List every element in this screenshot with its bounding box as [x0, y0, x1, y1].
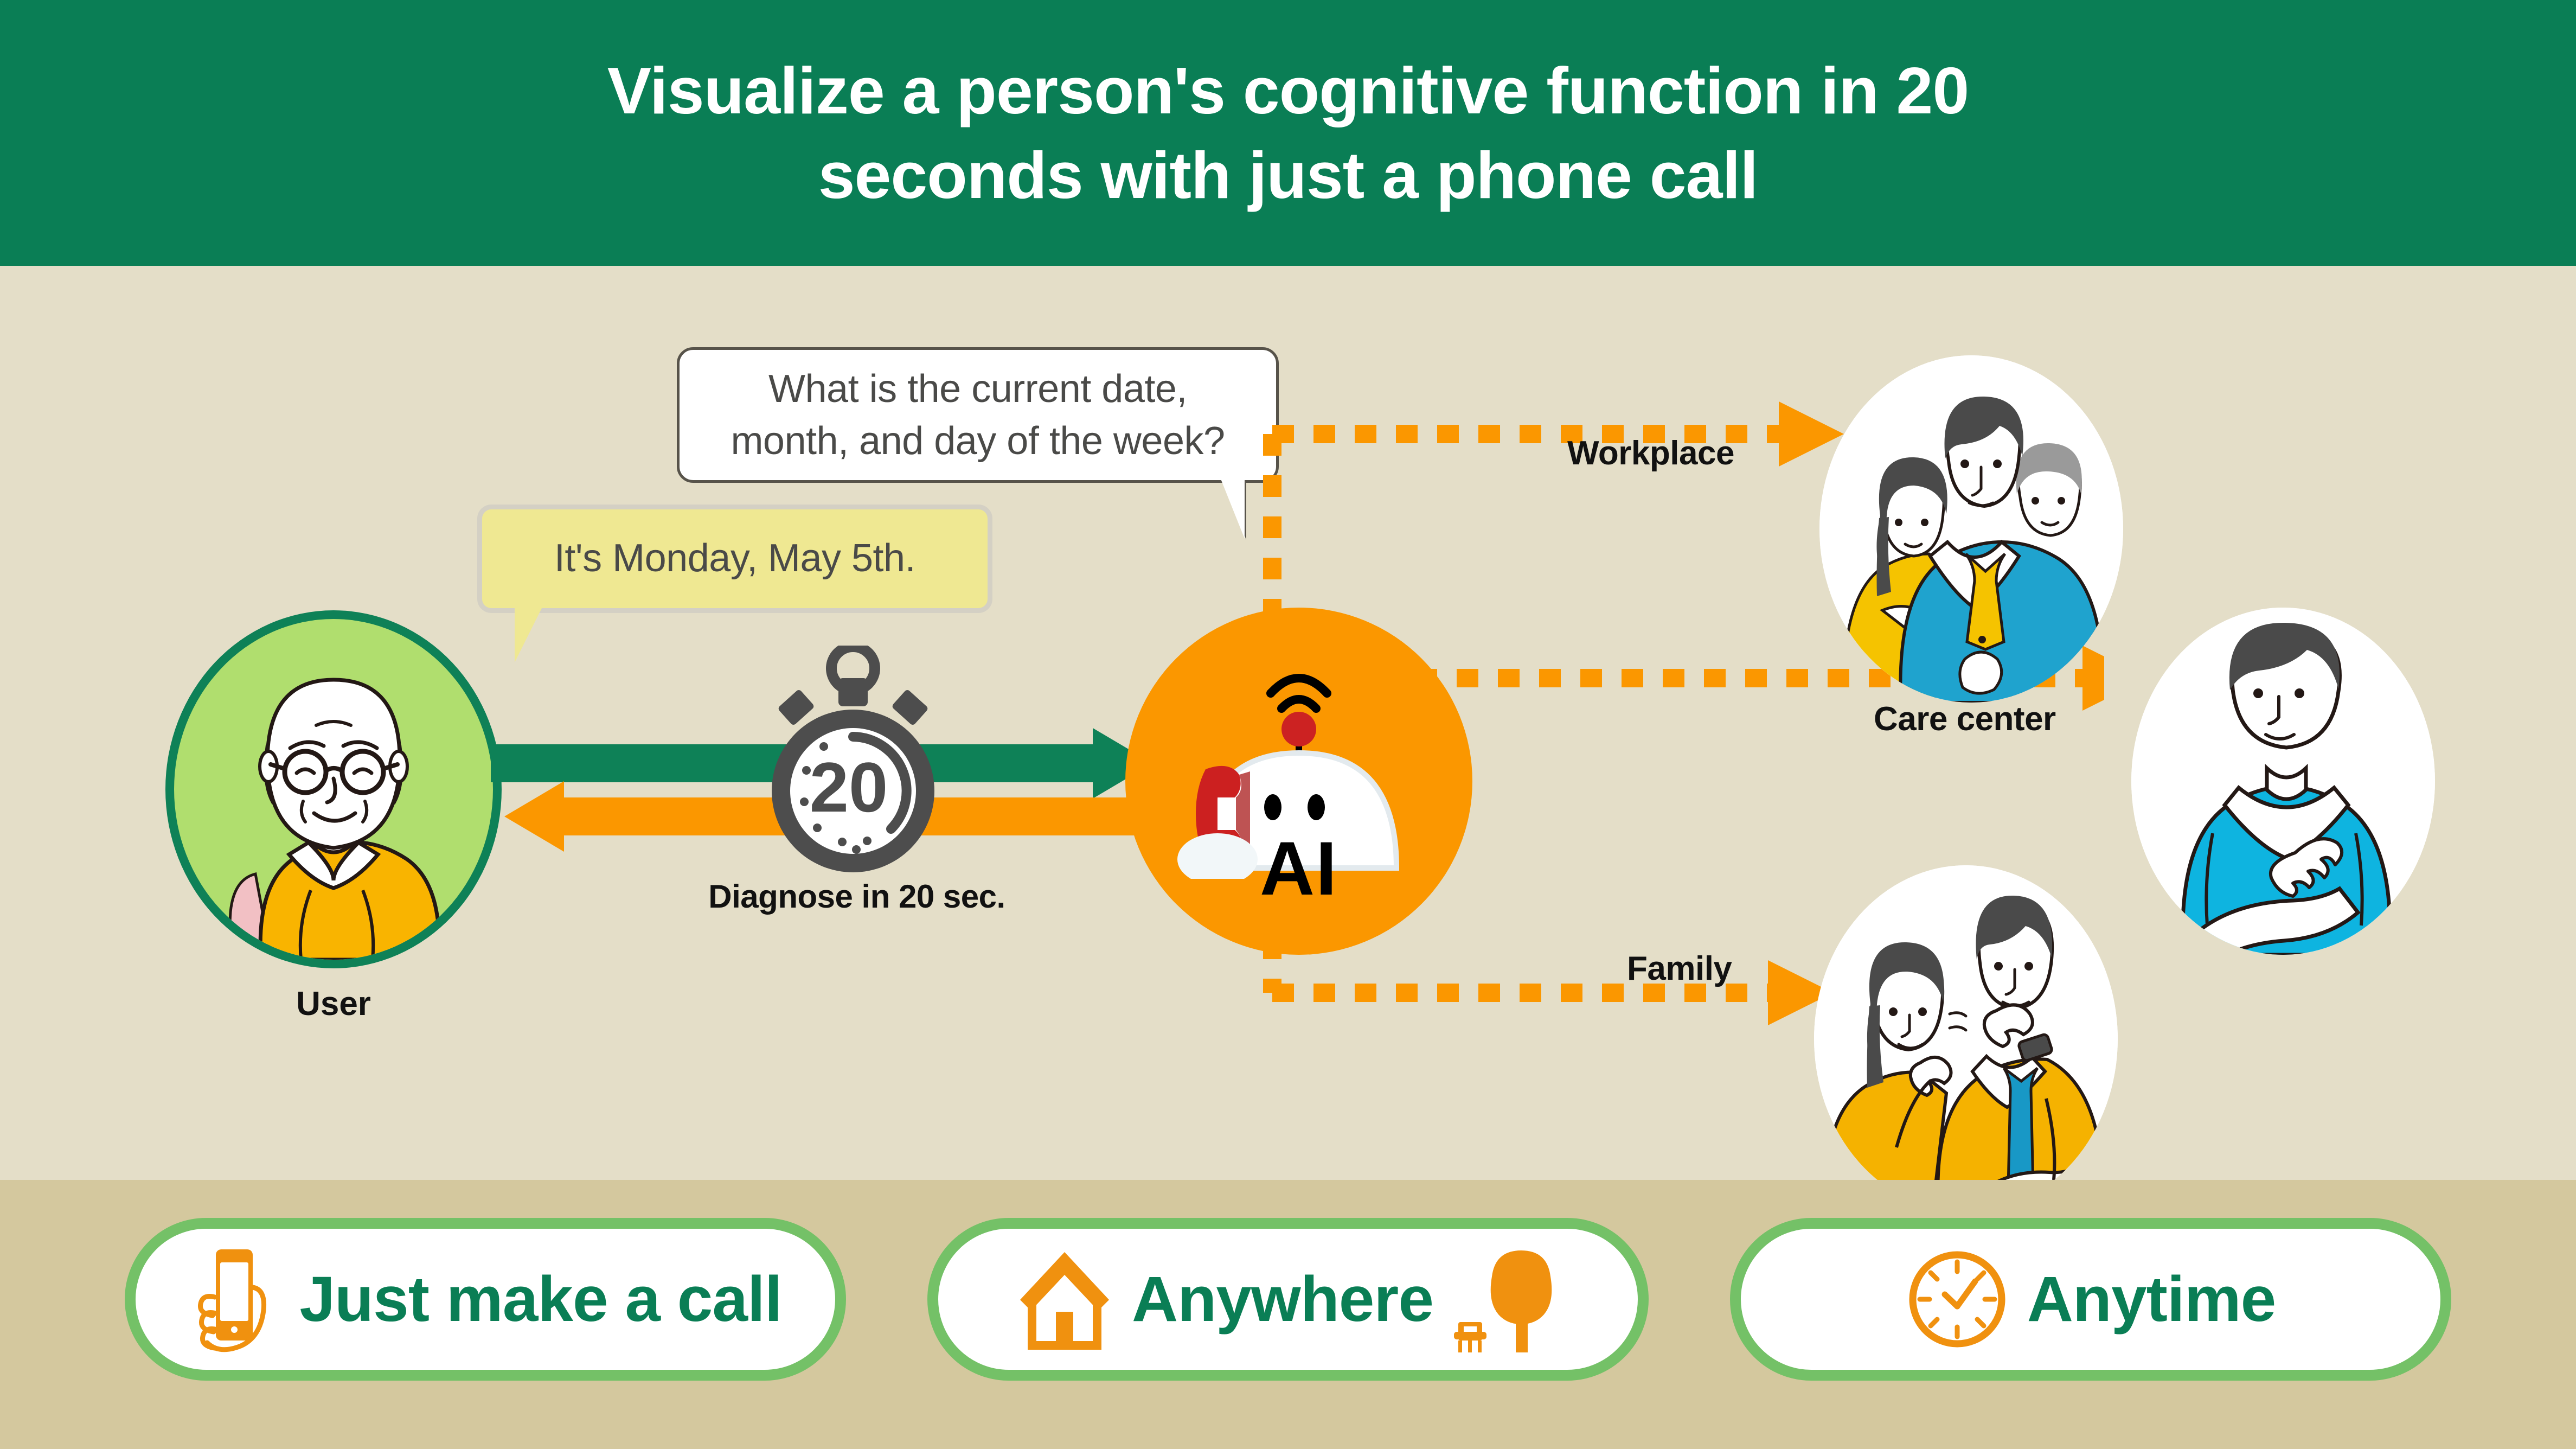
destination-circle-workplace	[1819, 355, 2123, 703]
business-team-avatar-icon	[1819, 355, 2123, 703]
user-answer-text: It's Monday, May 5th.	[554, 533, 915, 584]
destination-label-care-center: Care center	[1874, 700, 2056, 738]
elderly-man-avatar-icon	[174, 619, 493, 960]
branch-care-arrowhead	[2082, 646, 2104, 711]
user-node: User	[165, 610, 502, 1023]
destination-label-workplace: Workplace	[1567, 434, 1734, 473]
ai-question-bubble: What is the current date, month, and day…	[677, 347, 1279, 483]
user-avatar-circle	[165, 610, 502, 968]
feature-pill-label: Just make a call	[299, 1262, 781, 1336]
family-couple-avatar-icon	[1814, 865, 2118, 1212]
destination-label-family: Family	[1627, 949, 1732, 988]
stopwatch-value: 20	[810, 748, 888, 827]
user-node-label: User	[165, 985, 502, 1023]
tree-bench-icon	[1452, 1245, 1560, 1354]
feature-pill-row: Just make a call Anywhere	[0, 1218, 2576, 1386]
answer-bubble-tail	[515, 606, 543, 662]
feature-pill-anytime[interactable]: Anytime	[1730, 1218, 2451, 1381]
ai-question-text: What is the current date, month, and day…	[730, 363, 1225, 468]
clock-icon	[1906, 1248, 2009, 1351]
destination-circle-family	[1814, 865, 2118, 1212]
caregiver-avatar-icon	[2131, 608, 2435, 955]
house-icon	[1016, 1248, 1113, 1351]
hand-holding-phone-icon	[189, 1245, 281, 1354]
page-title: Visualize a person's cognitive function …	[607, 48, 1969, 218]
feature-pill-anywhere[interactable]: Anywhere	[927, 1218, 1649, 1381]
stopwatch-icon: 20	[750, 646, 956, 873]
infographic-canvas: Visualize a person's cognitive function …	[0, 0, 2576, 1449]
ai-node: AI	[1125, 608, 1472, 955]
header-banner: Visualize a person's cognitive function …	[0, 0, 2576, 266]
ai-node-label: AI	[1125, 825, 1472, 912]
destination-circle-care-center	[2131, 608, 2435, 955]
diagnose-caption: Diagnose in 20 sec.	[640, 878, 1074, 915]
feature-pill-just-make-a-call[interactable]: Just make a call	[125, 1218, 846, 1381]
feature-pill-label: Anywhere	[1132, 1262, 1433, 1336]
user-answer-bubble: It's Monday, May 5th.	[477, 505, 992, 613]
feature-pill-label: Anytime	[2027, 1262, 2276, 1336]
